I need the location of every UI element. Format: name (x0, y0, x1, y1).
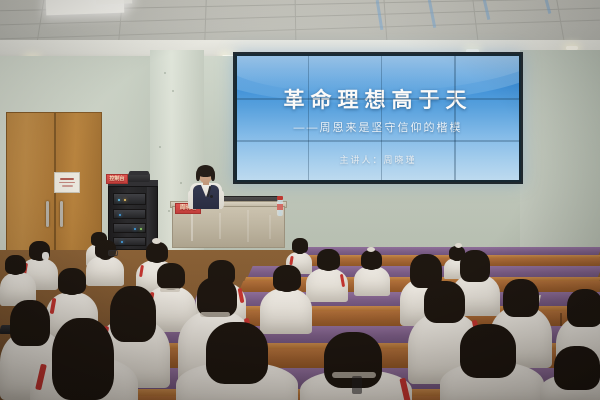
panel-seam-vertical (454, 56, 456, 180)
glasses-icon (108, 250, 118, 256)
lecture-hall-scene: 革命理想高于天 ——周恩来是坚守信仰的楷模 主讲人：周晓瑾 (0, 0, 600, 400)
slide-surface: 革命理想高于天 ——周恩来是坚守信仰的楷模 主讲人：周晓瑾 (237, 56, 519, 180)
slide-subtitle: ——周恩来是坚守信仰的楷模 (237, 119, 519, 135)
door-notice-sign (54, 172, 80, 193)
panel-seam-horizontal (237, 98, 519, 100)
telephone-handset[interactable] (129, 171, 149, 175)
panel-seam-horizontal (237, 140, 519, 142)
rack-placard-label: 控制台 (109, 177, 124, 182)
panel-seam-vertical (381, 56, 383, 180)
water-bottle-label (277, 204, 283, 210)
video-wall-screen: 革命理想高于天 ——周恩来是坚守信仰的楷模 主讲人：周晓瑾 (233, 52, 523, 184)
right-wall (520, 50, 600, 275)
microphone-head (210, 195, 213, 198)
panel-seam-vertical (308, 56, 310, 180)
slide-presenter-line: 主讲人：周晓瑾 (237, 153, 519, 166)
face-mask (42, 252, 49, 260)
rack-placard: 控制台 (106, 174, 128, 184)
water-bottle-cap (277, 196, 283, 200)
